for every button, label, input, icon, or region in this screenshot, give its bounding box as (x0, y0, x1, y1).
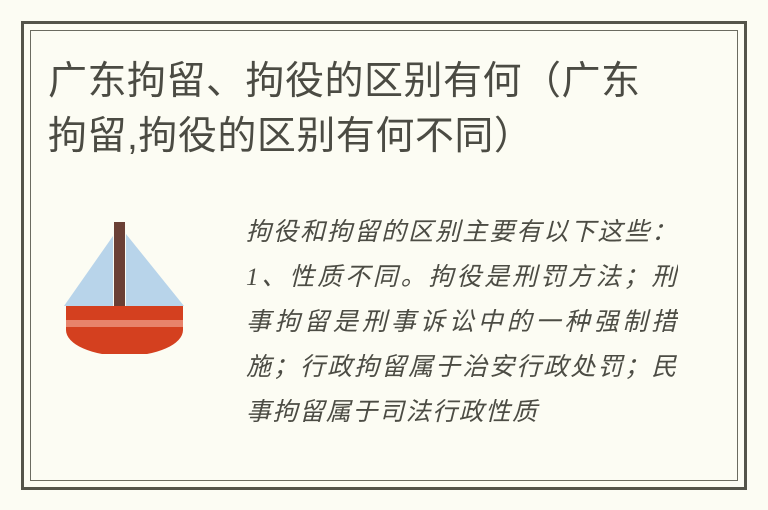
sailboat-right-sail (126, 234, 184, 306)
sailboat-hull-bottom (66, 327, 183, 354)
article-card-page: 广东拘留、拘役的区别有何（广东拘留,拘役的区别有何不同） (0, 0, 768, 510)
sailboat-hull-stripe (66, 320, 183, 327)
article-body-row: 拘役和拘留的区别主要有以下这些：1、性质不同。拘役是刑罚方法；刑事拘留是刑事诉讼… (48, 210, 738, 481)
sailboat-mast (114, 222, 125, 314)
sailboat-icon (58, 218, 192, 354)
sailboat-illustration (58, 218, 192, 354)
card-content: 广东拘留、拘役的区别有何（广东拘留,拘役的区别有何不同） (30, 30, 738, 481)
article-body-text: 拘役和拘留的区别主要有以下这些：1、性质不同。拘役是刑罚方法；刑事拘留是刑事诉讼… (246, 210, 678, 458)
page-title: 广东拘留、拘役的区别有何（广东拘留,拘役的区别有何不同） (48, 54, 648, 164)
sailboat-hull-top (66, 306, 183, 320)
sailboat-left-sail (64, 236, 113, 306)
